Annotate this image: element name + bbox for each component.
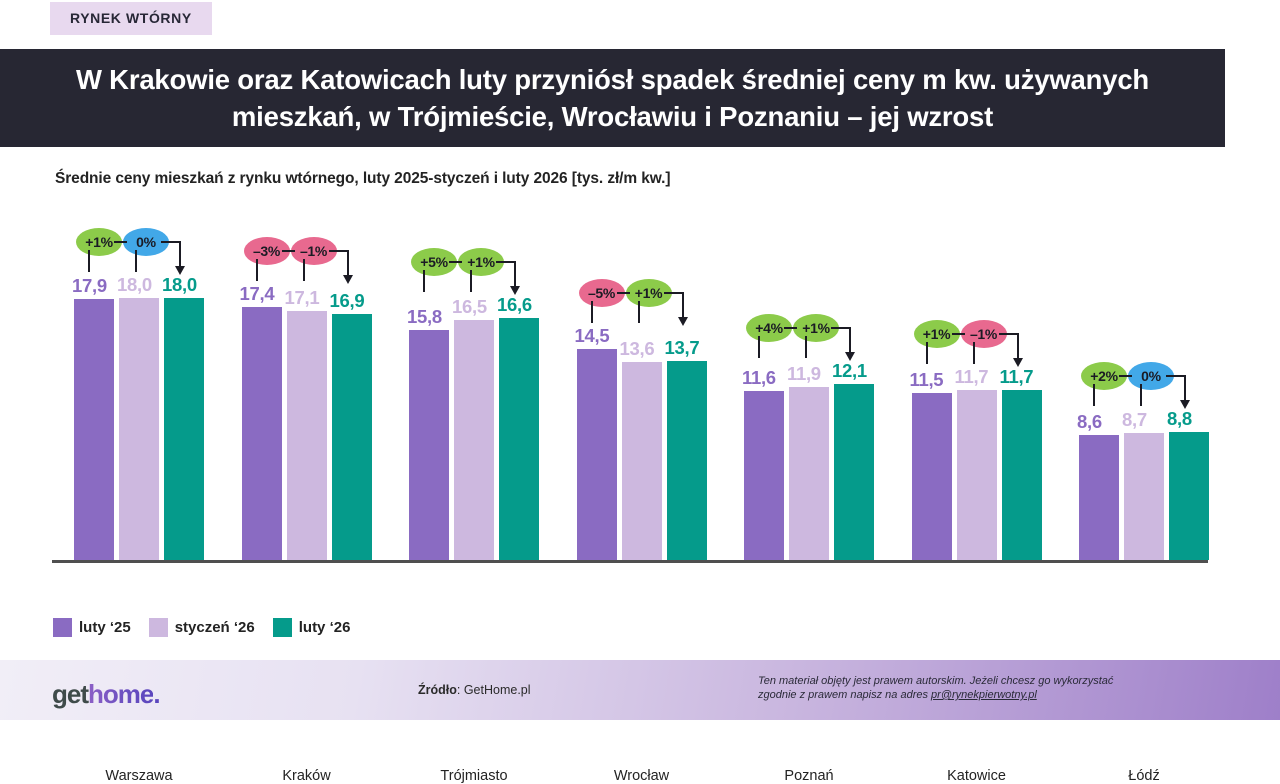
bar-poznań-2 — [789, 387, 829, 560]
bar-poznań-1 — [744, 391, 784, 560]
badge-connector — [831, 327, 850, 329]
bar-value-label: 8,8 — [1167, 408, 1192, 430]
badge-stem — [973, 342, 975, 364]
copyright-line-2: zgodnie z prawem napisz na adres — [758, 689, 931, 701]
badge-connector — [282, 250, 295, 252]
bar-value-label: 18,0 — [162, 274, 197, 296]
chart-group: 8,68,78,8+2%0% — [1079, 200, 1209, 560]
legend-swatch — [53, 618, 72, 637]
badge-connector — [784, 327, 797, 329]
bar-trójmiasto-2 — [454, 320, 494, 560]
bar-wrocław-2 — [622, 362, 662, 560]
bar-łódź-2 — [1124, 433, 1164, 560]
bar-kraków-3 — [332, 314, 372, 560]
trend-arrow-icon — [849, 327, 851, 353]
badge-connector — [329, 250, 348, 252]
badge-stem — [135, 250, 137, 272]
badge-stem — [423, 270, 425, 292]
legend-item-2[interactable]: styczeń ‘26 — [149, 618, 255, 637]
logo-text-home: home — [88, 679, 153, 709]
bar-warszawa-3 — [164, 298, 204, 560]
bar-value-label: 11,9 — [787, 363, 821, 385]
trend-arrow-icon — [682, 292, 684, 318]
bar-warszawa-1 — [74, 299, 114, 560]
bar-łódź-1 — [1079, 435, 1119, 560]
bar-value-label: 11,7 — [955, 366, 989, 388]
chart-group: 11,511,711,7+1%–1% — [912, 200, 1042, 560]
badge-connector — [449, 261, 462, 263]
trend-arrow-icon — [1184, 375, 1186, 401]
bar-value-label: 13,6 — [620, 338, 655, 360]
chart-subtitle: Średnie ceny mieszkań z rynku wtórnego, … — [55, 170, 670, 188]
x-axis-label-kraków: Kraków — [222, 768, 392, 784]
badge-connector — [1166, 375, 1185, 377]
trend-arrow-icon — [1017, 333, 1019, 359]
x-axis-label-katowice: Katowice — [892, 768, 1062, 784]
bar-trójmiasto-1 — [409, 330, 449, 560]
x-axis-label-wrocław: Wrocław — [557, 768, 727, 784]
bar-value-label: 8,7 — [1122, 409, 1147, 431]
badge-stem — [1093, 384, 1095, 406]
trend-arrow-icon — [514, 261, 516, 287]
badge-stem — [638, 301, 640, 323]
badge-connector — [1119, 375, 1132, 377]
bar-kraków-1 — [242, 307, 282, 560]
badge-connector — [999, 333, 1018, 335]
bar-value-label: 15,8 — [407, 306, 442, 328]
source-label: Źródło — [418, 683, 457, 697]
bar-value-label: 17,9 — [72, 275, 107, 297]
badge-connector — [114, 241, 127, 243]
contact-email-link[interactable]: pr@rynekpierwotny.pl — [931, 689, 1037, 701]
bar-chart: 17,918,018,0+1%0%17,417,116,9–3%–1%15,81… — [0, 200, 1280, 600]
x-axis-label-warszawa: Warszawa — [54, 768, 224, 784]
bar-value-label: 16,6 — [497, 294, 532, 316]
legend-swatch — [273, 618, 292, 637]
bar-wrocław-1 — [577, 349, 617, 560]
axis-baseline — [52, 560, 1208, 563]
chart-group: 11,611,912,1+4%+1% — [744, 200, 874, 560]
kicker-badge: RYNEK WTÓRNY — [50, 2, 212, 35]
bar-value-label: 17,1 — [285, 287, 320, 309]
logo-text-get: get — [52, 679, 88, 709]
bar-value-label: 12,1 — [832, 360, 867, 382]
badge-connector — [496, 261, 515, 263]
bar-value-label: 18,0 — [117, 274, 152, 296]
bar-katowice-3 — [1002, 390, 1042, 560]
badge-connector — [617, 292, 630, 294]
bar-wrocław-3 — [667, 361, 707, 560]
logo-text-dot: . — [153, 679, 159, 709]
badge-connector — [664, 292, 683, 294]
bar-value-label: 11,5 — [910, 369, 944, 391]
legend-swatch — [149, 618, 168, 637]
bar-value-label: 8,6 — [1077, 411, 1102, 433]
badge-stem — [470, 270, 472, 292]
bar-value-label: 14,5 — [575, 325, 610, 347]
bar-warszawa-2 — [119, 298, 159, 560]
copyright-line-1: Ten materiał objęty jest prawem autorski… — [758, 675, 1113, 687]
badge-connector — [952, 333, 965, 335]
legend-label: styczeń ‘26 — [175, 619, 255, 636]
bar-value-label: 17,4 — [240, 283, 275, 305]
legend-item-1[interactable]: luty ‘25 — [53, 618, 131, 637]
source-note: Źródło: GetHome.pl — [418, 683, 531, 697]
bar-kraków-2 — [287, 311, 327, 560]
badge-stem — [1140, 384, 1142, 406]
badge-connector — [161, 241, 180, 243]
x-axis-label-trójmiasto: Trójmiasto — [389, 768, 559, 784]
badge-stem — [303, 259, 305, 281]
copyright-note: Ten materiał objęty jest prawem autorski… — [758, 674, 1208, 702]
badge-stem — [591, 301, 593, 323]
bar-value-label: 11,7 — [1000, 366, 1034, 388]
legend-item-3[interactable]: luty ‘26 — [273, 618, 351, 637]
chart-group: 17,417,116,9–3%–1% — [242, 200, 372, 560]
source-value: : GetHome.pl — [457, 683, 531, 697]
legend-label: luty ‘26 — [299, 619, 351, 636]
x-axis-label-poznań: Poznań — [724, 768, 894, 784]
trend-arrow-icon — [179, 241, 181, 267]
badge-stem — [256, 259, 258, 281]
chart-legend: luty ‘25styczeń ‘26luty ‘26 — [53, 618, 350, 637]
badge-stem — [88, 250, 90, 272]
bar-value-label: 16,9 — [330, 290, 365, 312]
bar-trójmiasto-3 — [499, 318, 539, 560]
badge-stem — [805, 336, 807, 358]
badge-stem — [926, 342, 928, 364]
bar-katowice-2 — [957, 390, 997, 560]
x-axis-label-łódź: Łódź — [1059, 768, 1229, 784]
trend-arrow-icon — [347, 250, 349, 276]
bar-value-label: 11,6 — [742, 367, 776, 389]
page-title: W Krakowie oraz Katowicach luty przyniós… — [28, 61, 1198, 135]
legend-label: luty ‘25 — [79, 619, 131, 636]
bar-value-label: 16,5 — [452, 296, 487, 318]
bar-poznań-3 — [834, 384, 874, 560]
chart-group: 15,816,516,6+5%+1% — [409, 200, 539, 560]
chart-group: 14,513,613,7–5%+1% — [577, 200, 707, 560]
chart-group: 17,918,018,0+1%0% — [74, 200, 204, 560]
bar-katowice-1 — [912, 393, 952, 560]
footer-bar: gethome. Źródło: GetHome.pl Ten materiał… — [0, 660, 1280, 720]
headline-band: W Krakowie oraz Katowicach luty przyniós… — [0, 49, 1225, 147]
gethome-logo: gethome. — [52, 679, 160, 710]
badge-stem — [758, 336, 760, 358]
bar-łódź-3 — [1169, 432, 1209, 560]
bar-value-label: 13,7 — [665, 337, 700, 359]
